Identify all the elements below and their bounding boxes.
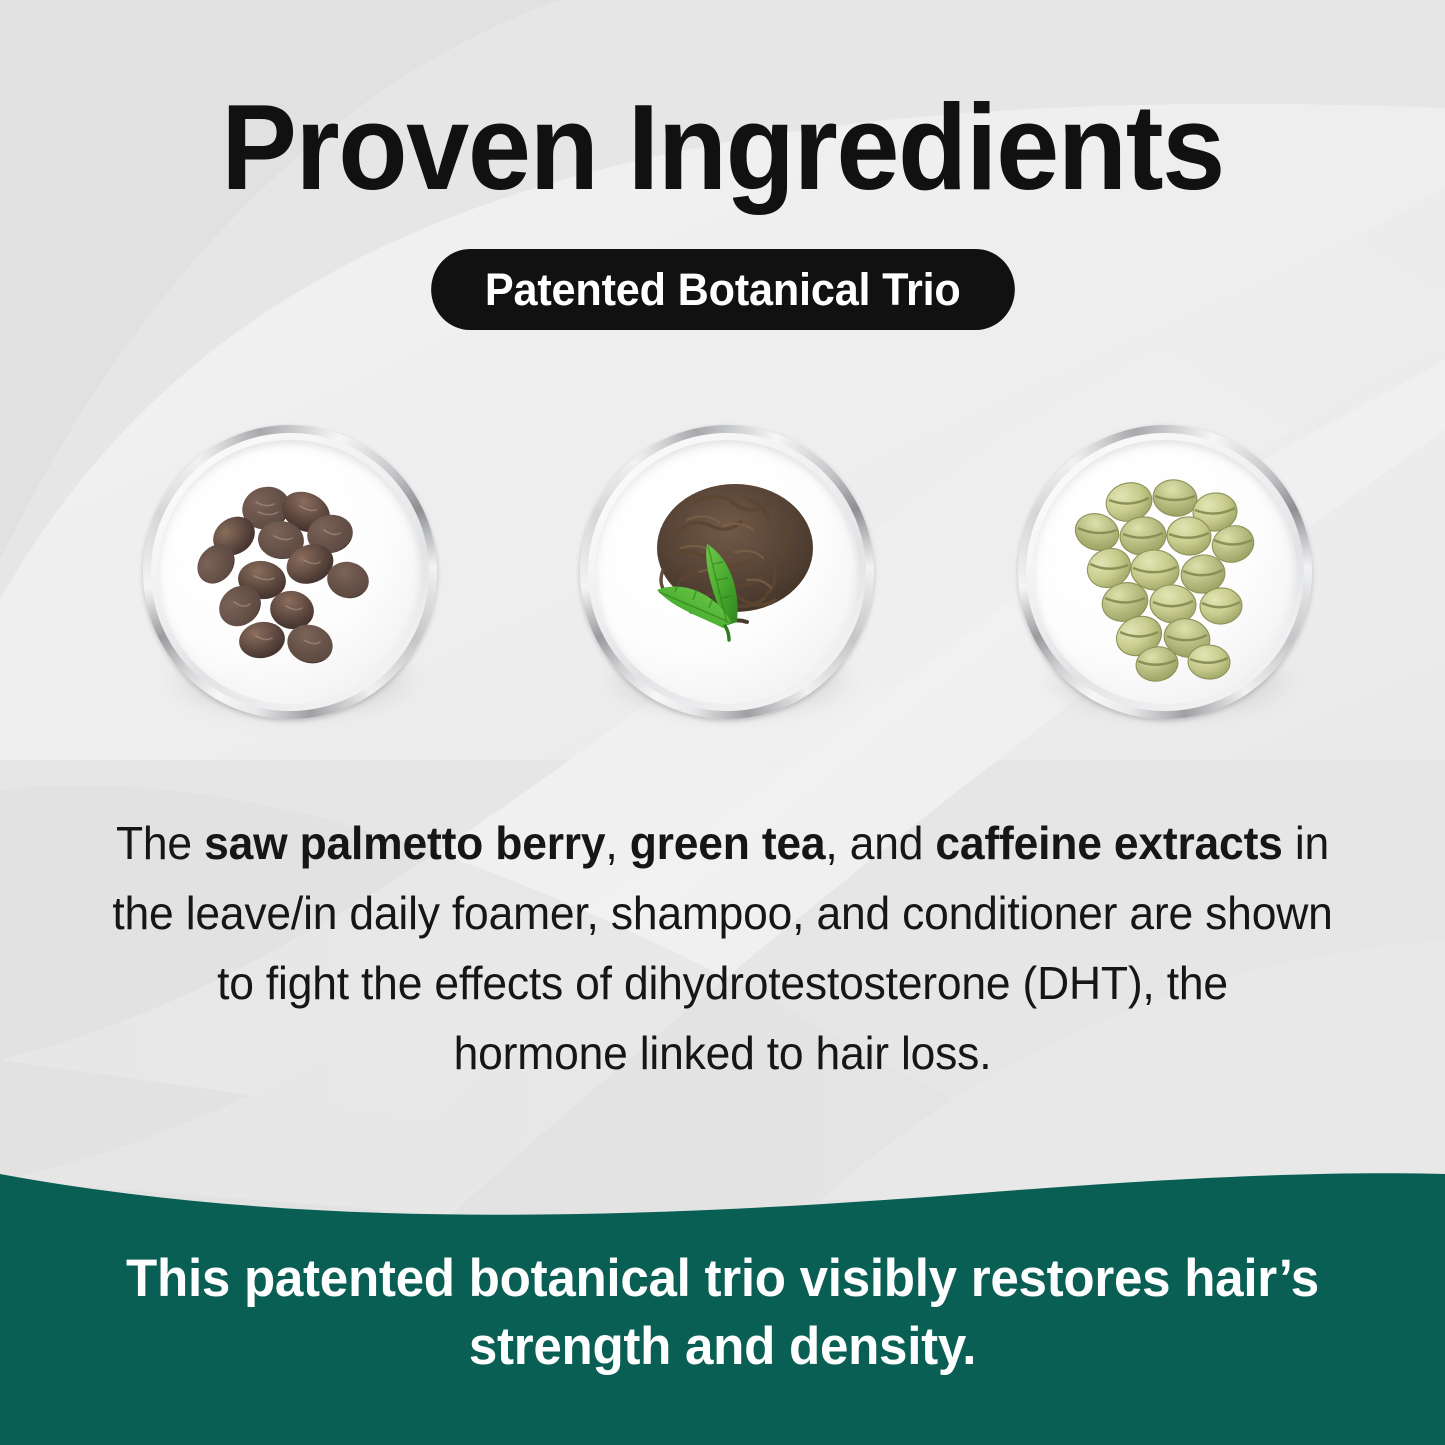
body-text-bold: saw palmetto berry: [204, 817, 605, 869]
ingredient-dish-caffeine-green-coffee: [1018, 425, 1312, 719]
green-coffee-beans-icon: [1033, 440, 1297, 704]
body-text: ,: [605, 817, 629, 869]
body-text: , and: [825, 817, 935, 869]
footer-line-1: This patented botanical trio visibly res…: [118, 1245, 1327, 1313]
body-paragraph: The saw palmetto berry, green tea, and c…: [101, 808, 1343, 1088]
dish-well: [1033, 440, 1297, 704]
badge-container: Patented Botanical Trio: [0, 249, 1445, 330]
footer-message: This patented botanical trio visibly res…: [118, 1245, 1327, 1381]
body-line: hormone linked to hair loss.: [101, 1018, 1343, 1088]
footer-banner: This patented botanical trio visibly res…: [0, 1145, 1445, 1445]
body-text-bold: caffeine extracts: [935, 817, 1282, 869]
body-line: to fight the effects of dihydrotestoster…: [101, 948, 1343, 1018]
proven-ingredients-infographic: Proven Ingredients Patented Botanical Tr…: [0, 0, 1445, 1445]
footer-line-2: strength and density.: [118, 1313, 1327, 1381]
body-text: The: [116, 817, 204, 869]
body-text: in: [1283, 817, 1329, 869]
body-line: the leave/in daily foamer, shampoo, and …: [101, 878, 1343, 948]
body-line: The saw palmetto berry, green tea, and c…: [101, 808, 1343, 878]
green-tea-leaves-icon: [595, 440, 859, 704]
status-badge: Patented Botanical Trio: [431, 249, 1014, 330]
dish-well: [595, 440, 859, 704]
ingredient-dish-green-tea: [580, 425, 874, 719]
page-title: Proven Ingredients: [51, 86, 1395, 208]
ingredient-dishes-row: [0, 425, 1445, 725]
ingredient-dish-saw-palmetto-berry: [143, 425, 437, 719]
saw-palmetto-berries-icon: [158, 440, 422, 704]
body-text-bold: green tea: [630, 817, 826, 869]
dish-well: [158, 440, 422, 704]
